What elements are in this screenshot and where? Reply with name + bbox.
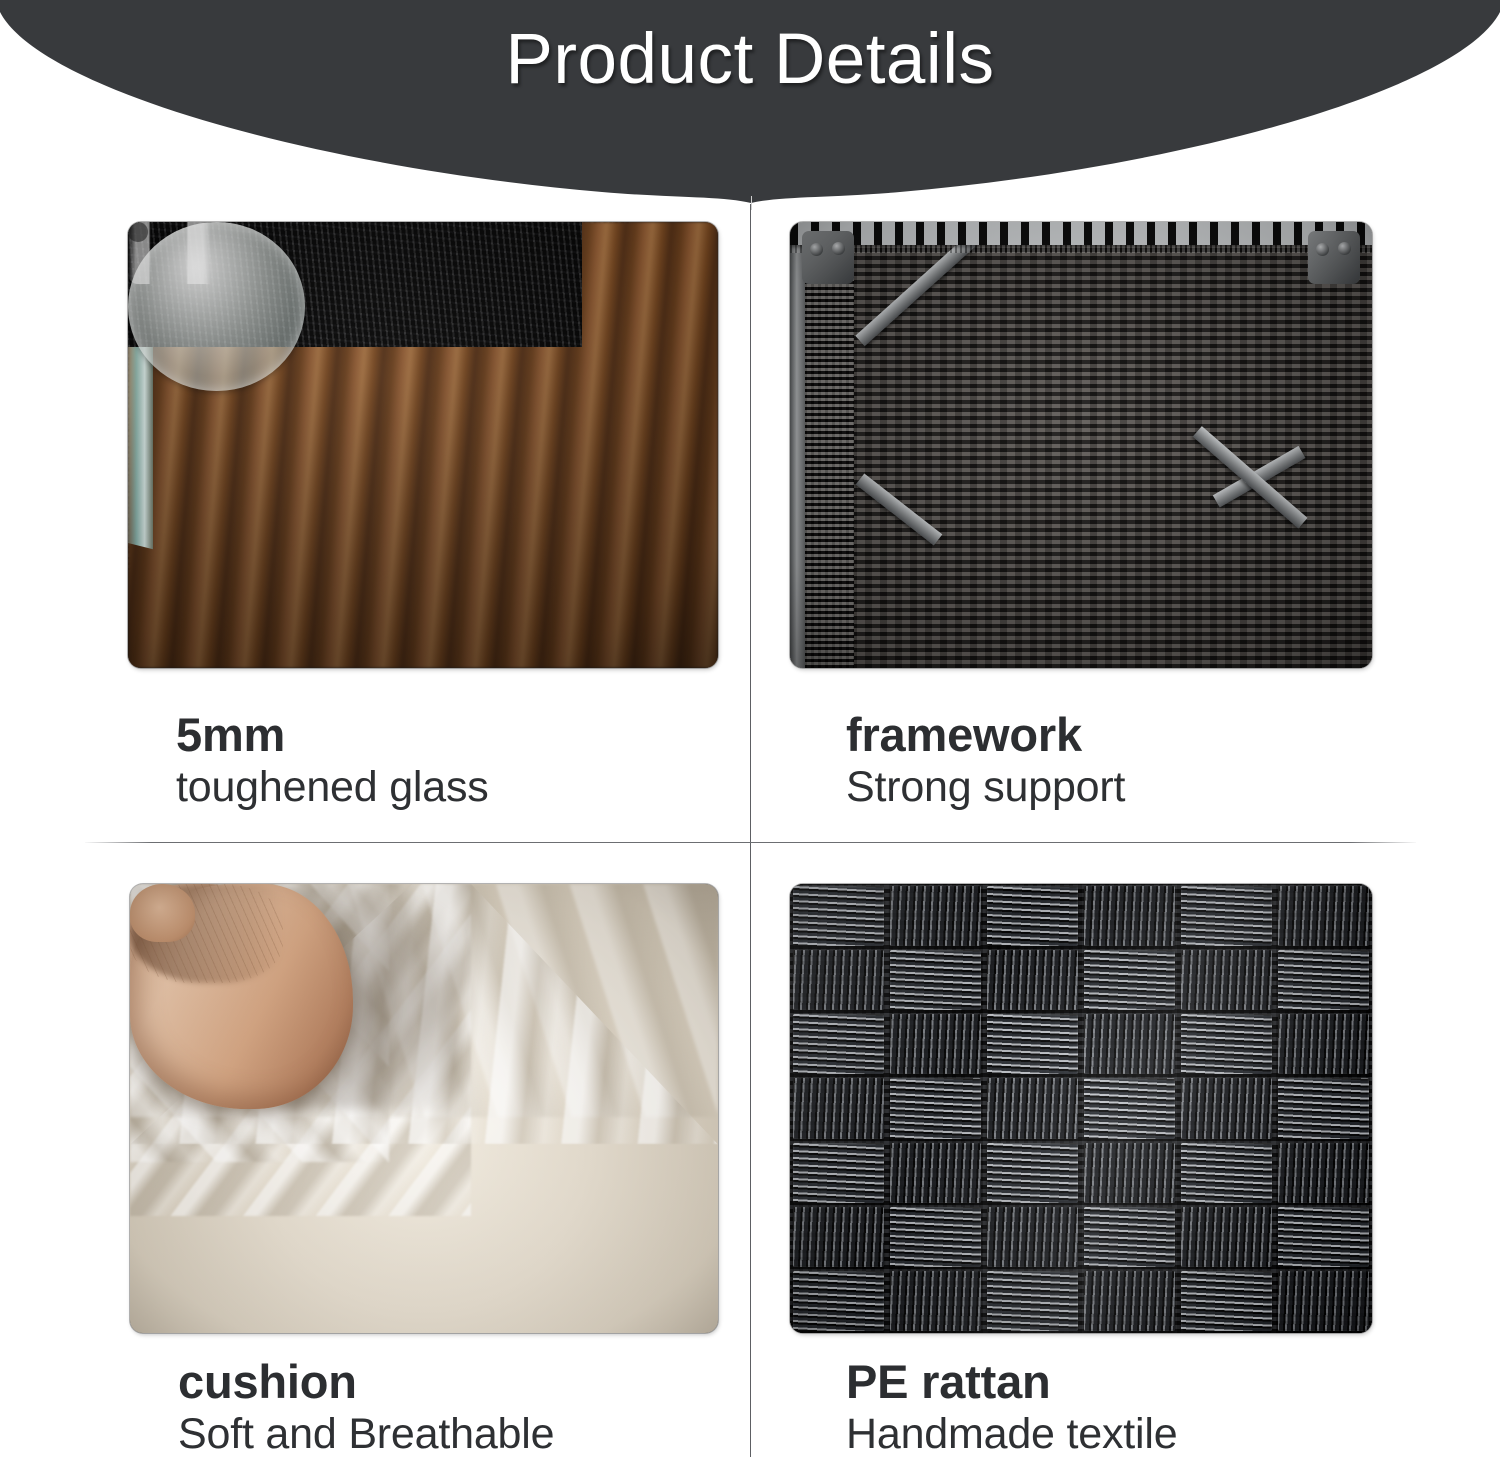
photo-framework [790, 222, 1372, 668]
panel-pe-rattan [790, 884, 1372, 1333]
caption-title: 5mm [176, 711, 489, 759]
banner-center-seam [751, 196, 752, 210]
photo-vignette [130, 884, 718, 1333]
panel-framework [790, 222, 1372, 668]
caption-subtitle: Handmade textile [846, 1412, 1177, 1457]
divider-horizontal [85, 842, 1416, 843]
caption-toughened-glass: 5mm toughened glass [176, 711, 489, 810]
panel-toughened-glass [128, 222, 718, 668]
divider-vertical-bottom [750, 843, 751, 1457]
photo-vignette [128, 222, 718, 668]
caption-title: PE rattan [846, 1358, 1177, 1406]
caption-pe-rattan: PE rattan Handmade textile [846, 1358, 1177, 1457]
caption-subtitle: Soft and Breathable [178, 1412, 554, 1457]
divider-vertical-top [750, 204, 751, 842]
header-banner: Product Details [0, 0, 1500, 215]
photo-toughened-glass [128, 222, 718, 668]
page-title: Product Details [0, 22, 1500, 99]
caption-subtitle: toughened glass [176, 765, 489, 810]
panel-cushion [130, 884, 718, 1333]
caption-cushion: cushion Soft and Breathable [178, 1358, 554, 1457]
product-details-infographic: Product Details 5mm toughened glass [0, 0, 1500, 1457]
caption-framework: framework Strong support [846, 711, 1125, 810]
caption-title: cushion [178, 1358, 554, 1406]
photo-vignette [790, 222, 1372, 668]
photo-pe-rattan [790, 884, 1372, 1333]
photo-vignette [790, 884, 1372, 1333]
caption-subtitle: Strong support [846, 765, 1125, 810]
photo-cushion [130, 884, 718, 1333]
caption-title: framework [846, 711, 1125, 759]
